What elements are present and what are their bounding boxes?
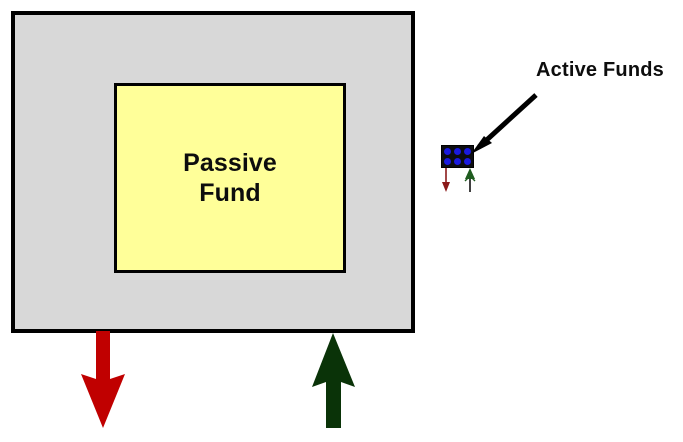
passive-fund-container: Passive Fund (11, 11, 415, 333)
active-outflow-arrow-red (442, 168, 450, 192)
active-fund-dot (454, 158, 461, 165)
inflow-arrow-green (312, 333, 355, 428)
active-fund-dot (454, 148, 461, 155)
active-funds-label: Active Funds (536, 59, 664, 82)
active-inflow-arrow-green (465, 168, 475, 192)
diagram-canvas: Passive Fund Active Funds (0, 0, 683, 442)
active-fund-dot (444, 148, 451, 155)
active-funds-callout-arrow (471, 95, 536, 154)
active-fund-dot (464, 148, 471, 155)
outflow-arrow-red (81, 331, 125, 428)
active-funds-chip (441, 145, 474, 168)
active-fund-dot (464, 158, 471, 165)
passive-fund-box: Passive Fund (114, 83, 346, 273)
passive-fund-label: Passive Fund (183, 148, 277, 209)
active-fund-dot (444, 158, 451, 165)
